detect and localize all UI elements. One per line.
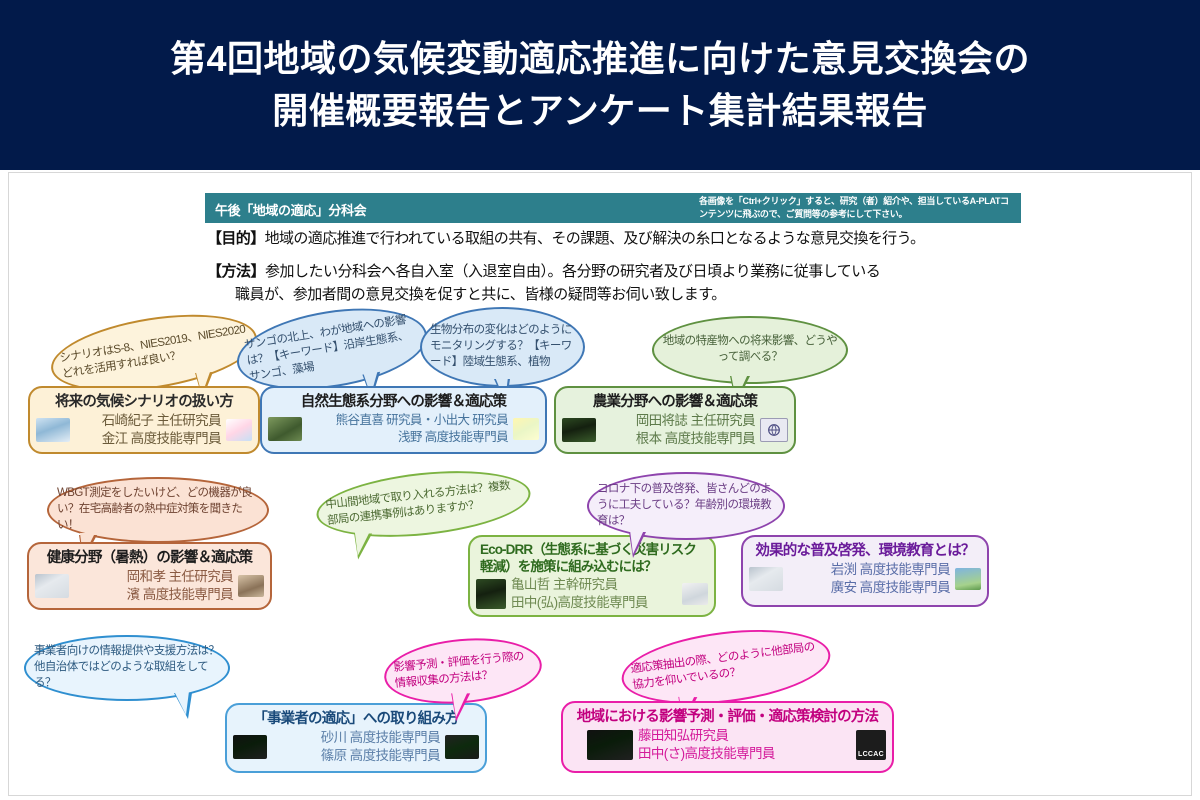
presentation-title-line-1: 第4回地域の気候変動適応推進に向けた意見交換会の [170, 33, 1030, 85]
card-name-2: 篠原 高度技能専門員 [272, 747, 440, 765]
activity-thumbnail[interactable] [955, 568, 981, 590]
section-bar: 午後「地域の適応」分科会 各画像を「Ctrl+クリック」すると、研究（者）紹介や… [205, 193, 1021, 223]
card-future-climate-scenario[interactable]: 将来の気候シナリオの扱い方 石崎紀子 主任研究員 金江 高度技能専門員 [28, 386, 260, 454]
card-natural-ecosystem[interactable]: 自然生態系分野への影響＆適応策 熊谷直喜 研究員・小出大 研究員 浅野 高度技能… [260, 386, 547, 454]
researcher-photo-thumbnail[interactable] [268, 417, 302, 441]
card-name-2: 金江 高度技能専門員 [75, 430, 221, 448]
card-agriculture[interactable]: 農業分野への影響＆適応策 岡田将誌 主任研究員 根本 高度技能専門員 [554, 386, 796, 454]
card-names: 亀山哲 主幹研究員 田中(弘)高度技能専門員 [511, 576, 677, 612]
content-thumbnail[interactable] [233, 735, 267, 759]
card-title: 地域における影響予測・評価・適応策検討の方法 [569, 708, 886, 726]
card-name-1: 藤田知弘研究員 [638, 728, 728, 743]
video-thumbnail[interactable] [445, 735, 479, 759]
bubble-tail-fill [452, 691, 468, 717]
lccac-logo-thumbnail[interactable]: LCCAC [856, 730, 886, 760]
bubble-tail-fill [174, 691, 189, 715]
content-thumbnail[interactable] [749, 567, 783, 591]
card-name-2: 田中(さ)高度技能専門員 [638, 745, 851, 763]
slide-canvas: 午後「地域の適応」分科会 各画像を「Ctrl+クリック」すると、研究（者）紹介や… [8, 172, 1192, 796]
bubble-business-support: 事業者向けの情報提供や支援方法は？他自治体ではどのような取組をしてる？ [24, 635, 230, 701]
card-body: 岡田将誌 主任研究員 根本 高度技能専門員 [556, 412, 794, 452]
presentation-title-band: 第4回地域の気候変動適応推進に向けた意見交換会の 開催概要報告とアンケート集計結… [0, 0, 1200, 170]
card-names: 熊谷直喜 研究員・小出大 研究員 浅野 高度技能専門員 [307, 412, 508, 445]
purpose-paragraph: 【目的】地域の適応推進で行われている取組の共有、その課題、及び解決の糸口となるよ… [207, 227, 1027, 248]
purpose-label: 【目的】 [207, 230, 265, 247]
card-body: 亀山哲 主幹研究員 田中(弘)高度技能専門員 [470, 576, 714, 616]
bubble-text: コロナ下の普及啓発、皆さんどのように工夫している？年齢別の環境教育は？ [589, 482, 783, 530]
content-thumbnail[interactable] [587, 730, 633, 760]
bubble-text: 地域の特産物への将来影響、どうやって調べる？ [654, 334, 846, 366]
card-title: 自然生態系分野への影響＆適応策 [268, 393, 539, 411]
bubble-text: シナリオはS-8、NIES2019、NIES2020どれを活用すれば良い？ [51, 321, 257, 384]
bubble-species-monitoring: 生物分布の変化はどのようにモニタリングする？【キーワード】陸域生態系、植物 [420, 307, 585, 387]
lccac-logo-label: LCCAC [858, 751, 884, 760]
bubble-tail-fill [355, 532, 370, 556]
bubble-corona-awareness: コロナ下の普及啓発、皆さんどのように工夫している？年齢別の環境教育は？ [587, 472, 785, 540]
bubble-mountainous-area: 中山間地域で取り入れる方法は？複数部局の連携事例はありますか？ [313, 462, 533, 546]
researcher-photo-thumbnail[interactable] [562, 418, 596, 442]
method-paragraph: 【方法】参加したい分科会へ各自入室（入退室自由）。各分野の研究者及び日頃より業務… [207, 261, 1037, 306]
section-bar-title: 午後「地域の適応」分科会 [215, 200, 366, 219]
card-title: 将来の気候シナリオの扱い方 [36, 393, 252, 411]
purpose-text: 地域の適応推進で行われている取組の共有、その課題、及び解決の糸口となるような意見… [265, 230, 925, 247]
bubble-text: 適応策抽出の際、どのように他部局の協力を仰いでいるの？ [622, 639, 830, 696]
slide-page: 第4回地域の気候変動適応推進に向けた意見交換会の 開催概要報告とアンケート集計結… [0, 0, 1200, 800]
card-name-2: 根本 高度技能専門員 [601, 430, 755, 448]
bubble-text: サンゴの北上、わが地域への影響は？【キーワード】沿岸生態系、サンゴ、藻場 [235, 311, 428, 387]
card-names: 藤田知弘研究員 田中(さ)高度技能専門員 [638, 727, 851, 763]
method-line-1: 参加したい分科会へ各自入室（入退室自由）。各分野の研究者及び日頃より業務に従事し… [265, 263, 880, 280]
bubble-local-produce: 地域の特産物への将来影響、どうやって調べる？ [652, 316, 848, 384]
researcher-photo-thumbnail[interactable] [36, 418, 70, 442]
card-regional-assessment[interactable]: 地域における影響予測・評価・適応策検討の方法 藤田知弘研究員 田中(さ)高度技能… [561, 701, 894, 773]
card-body: 岩渕 高度技能専門員 廣安 高度技能専門員 [743, 561, 987, 601]
card-body: 藤田知弘研究員 田中(さ)高度技能専門員 LCCAC [563, 727, 892, 767]
card-name-2: 浅野 高度技能専門員 [307, 429, 508, 446]
researcher-photo-thumbnail[interactable] [476, 579, 506, 609]
section-bar-note: 各画像を「Ctrl+クリック」すると、研究（者）紹介や、担当しているA-PLAT… [699, 195, 1017, 221]
card-name-1: 石崎紀子 主任研究員 [102, 413, 221, 428]
card-name-1: 砂川 高度技能専門員 [321, 730, 440, 745]
presentation-title-line-2: 開催概要報告とアンケート集計結果報告 [272, 85, 928, 137]
card-awareness-education[interactable]: 効果的な普及啓発、環境教育とは？ 岩渕 高度技能専門員 廣安 高度技能専門員 [741, 535, 989, 607]
bubble-text: WBGT測定をしたいけど、どの機器が良い？在宅高齢者の熱中症対策を聞きたい！ [49, 486, 267, 534]
bubble-text: 中山間地域で取り入れる方法は？複数部局の連携事例はありますか？ [317, 477, 530, 531]
globe-link-glyph [765, 422, 783, 438]
card-names: 砂川 高度技能専門員 篠原 高度技能専門員 [272, 729, 440, 765]
card-name-1: 岡和孝 主任研究員 [127, 569, 233, 584]
bubble-text: 生物分布の変化はどのようにモニタリングする？【キーワード】陸域生態系、植物 [422, 323, 583, 371]
card-name-1: 熊谷直喜 研究員・小出大 研究員 [336, 413, 508, 427]
card-names: 岩渕 高度技能専門員 廣安 高度技能専門員 [788, 561, 950, 597]
card-eco-drr[interactable]: Eco-DRR（生態系に基づく災害リスク軽減）を施策に組み込むには？ 亀山哲 主… [468, 535, 716, 617]
card-name-1: 岩渕 高度技能専門員 [831, 562, 950, 577]
researcher-photo-thumbnail[interactable] [35, 574, 69, 598]
method-label: 【方法】 [207, 263, 265, 280]
card-name-1: 亀山哲 主幹研究員 [511, 577, 617, 592]
card-name-2: 濱 高度技能専門員 [74, 586, 233, 604]
card-body: 砂川 高度技能専門員 篠原 高度技能専門員 [227, 729, 485, 769]
card-title: 農業分野への影響＆適応策 [562, 393, 788, 411]
card-title: 効果的な普及啓発、環境教育とは？ [749, 542, 981, 560]
japan-map-thumbnail[interactable] [226, 419, 252, 441]
card-names: 石崎紀子 主任研究員 金江 高度技能専門員 [75, 412, 221, 448]
card-name-1: 岡田将誌 主任研究員 [636, 413, 755, 428]
method-line-2: 職員が、参加者間の意見交換を促すと共に、皆様の疑問等お伺い致します。 [207, 284, 1037, 307]
card-name-2: 田中(弘)高度技能専門員 [511, 594, 677, 612]
card-names: 岡田将誌 主任研究員 根本 高度技能専門員 [601, 412, 755, 448]
card-name-2: 廣安 高度技能専門員 [788, 579, 950, 597]
card-body: 岡和孝 主任研究員 濱 高度技能専門員 [29, 568, 270, 608]
content-thumbnail[interactable] [238, 575, 264, 597]
link-icon[interactable] [760, 418, 788, 442]
content-thumbnail[interactable] [682, 583, 708, 605]
content-thumbnail[interactable] [513, 418, 539, 440]
bubble-wbgt-measurement: WBGT測定をしたいけど、どの機器が良い？在宅高齢者の熱中症対策を聞きたい！ [47, 477, 269, 543]
card-title: 「事業者の適応」への取り組み方 [233, 710, 479, 728]
card-body: 石崎紀子 主任研究員 金江 高度技能専門員 [30, 412, 258, 452]
bubble-text: 影響予測・評価を行う際の情報収集の方法は？ [385, 648, 541, 693]
bubble-tail-fill [630, 530, 644, 554]
card-names: 岡和孝 主任研究員 濱 高度技能専門員 [74, 568, 233, 604]
card-health-heat[interactable]: 健康分野（暑熱）の影響＆適応策 岡和孝 主任研究員 濱 高度技能専門員 [27, 542, 272, 610]
bubble-text: 事業者向けの情報提供や支援方法は？他自治体ではどのような取組をしてる？ [26, 644, 228, 692]
card-title: Eco-DRR（生態系に基づく災害リスク軽減）を施策に組み込むには？ [480, 542, 708, 576]
bubble-impact-assessment-info: 影響予測・評価を行う際の情報収集の方法は？ [382, 632, 545, 710]
card-body: 熊谷直喜 研究員・小出大 研究員 浅野 高度技能専門員 [262, 412, 545, 449]
card-business-adaptation[interactable]: 「事業者の適応」への取り組み方 砂川 高度技能専門員 篠原 高度技能専門員 [225, 703, 487, 773]
card-title: 健康分野（暑熱）の影響＆適応策 [35, 549, 264, 567]
